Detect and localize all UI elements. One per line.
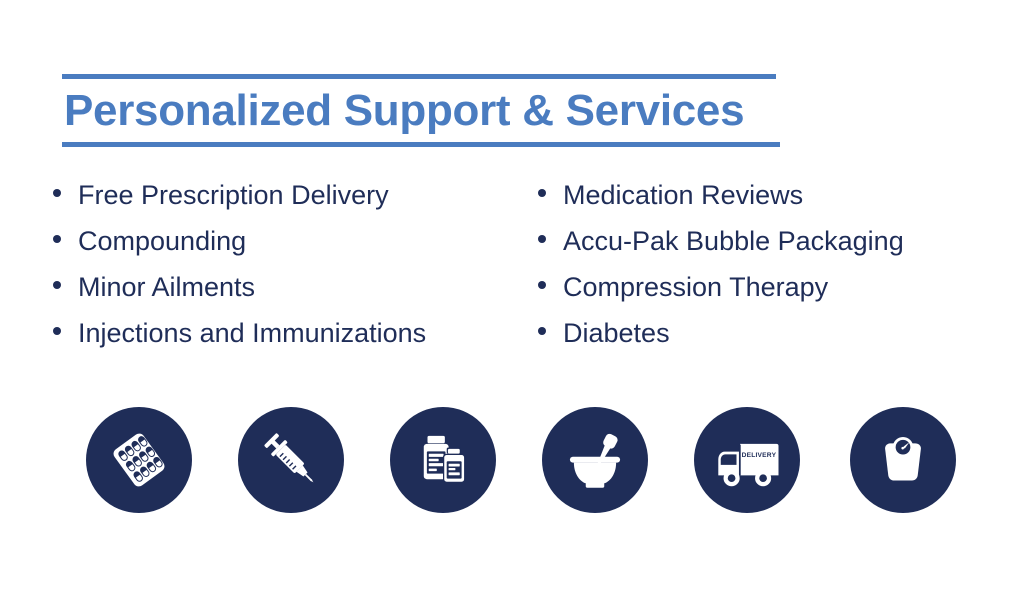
bullet-dot-icon <box>538 235 546 243</box>
bullet-dot-icon <box>53 281 61 289</box>
blister-pack-icon <box>108 429 170 491</box>
icon-row: DELIVERY <box>86 407 956 513</box>
list-item: Medication Reviews <box>538 178 904 224</box>
bullet-dot-icon <box>538 327 546 335</box>
pill-bottles-icon <box>412 429 474 491</box>
delivery-truck-icon: DELIVERY <box>712 425 782 495</box>
service-label: Injections and Immunizations <box>78 316 426 350</box>
bullet-dot-icon <box>538 281 546 289</box>
bullet-dot-icon <box>538 189 546 197</box>
list-item: Free Prescription Delivery <box>53 178 426 224</box>
service-label: Free Prescription Delivery <box>78 178 389 212</box>
mortar-pestle-icon <box>562 427 628 493</box>
icon-badge-pill-bottles <box>390 407 496 513</box>
icon-badge-mortar-pestle <box>542 407 648 513</box>
service-label: Minor Ailments <box>78 270 255 304</box>
icon-badge-weight-scale <box>850 407 956 513</box>
icon-badge-blister-pack <box>86 407 192 513</box>
bullet-dot-icon <box>53 235 61 243</box>
list-item: Accu-Pak Bubble Packaging <box>538 224 904 270</box>
weight-scale-icon <box>871 428 935 492</box>
service-label: Compounding <box>78 224 246 258</box>
icon-badge-syringe <box>238 407 344 513</box>
list-item: Minor Ailments <box>53 270 426 316</box>
list-item: Injections and Immunizations <box>53 316 426 362</box>
title-rule-bottom <box>62 142 780 147</box>
syringe-icon <box>259 428 323 492</box>
title-block: Personalized Support & Services <box>62 74 780 147</box>
services-column-left: Free Prescription Delivery Compounding M… <box>53 178 426 362</box>
bullet-dot-icon <box>53 327 61 335</box>
service-label: Accu-Pak Bubble Packaging <box>563 224 904 258</box>
truck-delivery-text: DELIVERY <box>742 452 777 459</box>
service-label: Medication Reviews <box>563 178 803 212</box>
service-label: Compression Therapy <box>563 270 828 304</box>
list-item: Diabetes <box>538 316 904 362</box>
bullet-dot-icon <box>53 189 61 197</box>
services-list-left: Free Prescription Delivery Compounding M… <box>53 178 426 362</box>
page-title: Personalized Support & Services <box>62 79 780 142</box>
icon-badge-delivery-truck: DELIVERY <box>694 407 800 513</box>
list-item: Compression Therapy <box>538 270 904 316</box>
services-column-right: Medication Reviews Accu-Pak Bubble Packa… <box>538 178 904 362</box>
list-item: Compounding <box>53 224 426 270</box>
service-label: Diabetes <box>563 316 670 350</box>
slide-canvas: Personalized Support & Services Free Pre… <box>0 0 1025 590</box>
services-list-right: Medication Reviews Accu-Pak Bubble Packa… <box>538 178 904 362</box>
